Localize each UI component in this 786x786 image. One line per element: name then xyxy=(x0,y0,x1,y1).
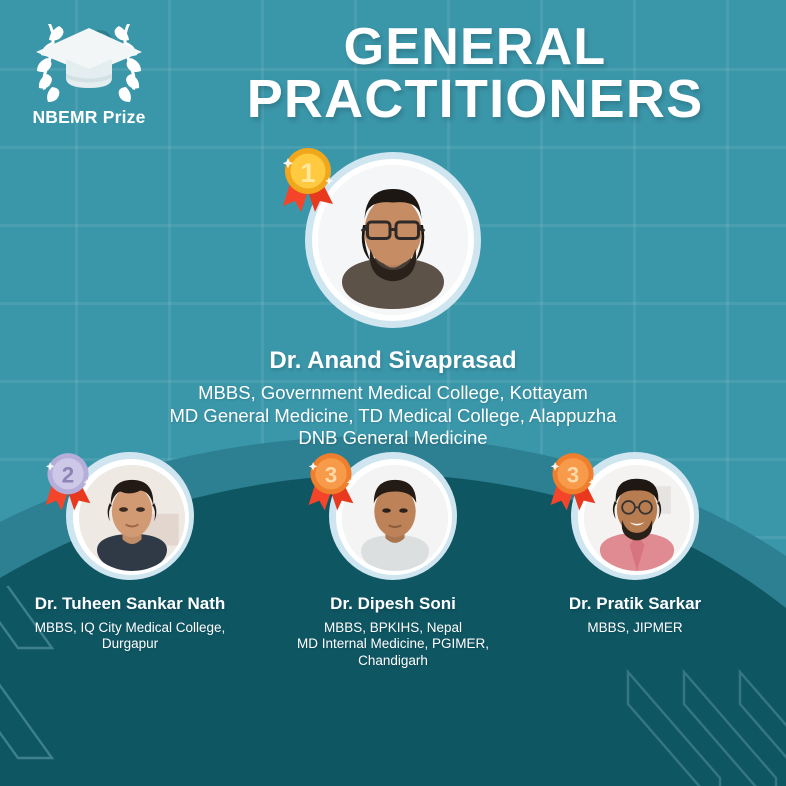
winner-card-first-place: 1 Dr. Anand Sivaprasad MBBS, Government … xyxy=(143,152,643,450)
award-poster: NBEMR Prize GENERAL PRACTITIONERS xyxy=(0,0,786,786)
winner-name-3: Dr. Dipesh Soni xyxy=(268,594,518,614)
medal-rank-3b: 3 xyxy=(567,463,579,488)
avatar: 1 xyxy=(305,152,481,328)
winner-credentials-3: MBBS, BPKIHS, Nepal MD Internal Medicine… xyxy=(268,620,518,669)
winner-credentials-2: MBBS, IQ City Medical College, Durgapur xyxy=(5,620,255,653)
medal-rank-1: 1 xyxy=(300,158,315,188)
winner-name-2: Dr. Tuheen Sankar Nath xyxy=(5,594,255,614)
medal-rank-2: 2 xyxy=(62,463,74,488)
page-title: GENERAL PRACTITIONERS xyxy=(180,22,770,126)
silver-medal-ribbon-icon: 2 xyxy=(40,446,96,514)
winner-card-second-place: 2 Dr. Tuheen Sankar Nath MBBS, IQ City M… xyxy=(5,452,255,653)
bronze-medal-ribbon-icon: 3 xyxy=(545,446,601,514)
winner-credentials-1: MBBS, Government Medical College, Kottay… xyxy=(143,382,643,450)
graduation-cap-laurel-icon xyxy=(14,12,164,104)
winner-card-third-place-a: 3 Dr. Dipesh Soni MBBS, BPKIHS, Nepal MD… xyxy=(268,452,518,669)
winner-name-1: Dr. Anand Sivaprasad xyxy=(143,347,643,375)
medal-rank-3a: 3 xyxy=(325,463,337,488)
bronze-medal-ribbon-icon: 3 xyxy=(303,446,359,514)
avatar: 3 xyxy=(571,452,699,580)
brand-name: NBEMR Prize xyxy=(14,107,164,128)
winner-card-third-place-b: 3 Dr. Pratik Sarkar MBBS, JIPMER xyxy=(510,452,760,636)
title-line-1: GENERAL xyxy=(180,22,770,73)
title-line-2: PRACTITIONERS xyxy=(180,73,770,126)
gold-medal-ribbon-icon: 1 xyxy=(277,140,339,216)
brand-logo: NBEMR Prize xyxy=(14,12,164,134)
winner-photo-1 xyxy=(318,165,468,315)
winner-credentials-4: MBBS, JIPMER xyxy=(510,620,760,636)
avatar: 3 xyxy=(329,452,457,580)
winner-name-4: Dr. Pratik Sarkar xyxy=(510,594,760,614)
avatar: 2 xyxy=(66,452,194,580)
